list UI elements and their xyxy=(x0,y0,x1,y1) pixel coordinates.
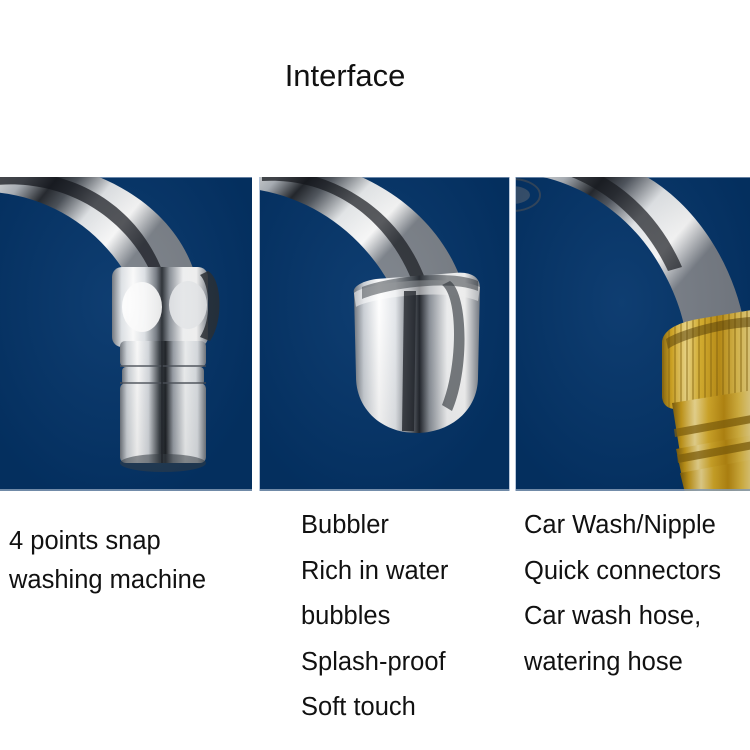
caption-line: washing machine xyxy=(9,561,206,600)
caption-line: 4 points snap xyxy=(9,522,206,561)
caption-four-points-snap: 4 points snap washing machine xyxy=(9,522,206,600)
caption-car-wash-nipple: Car Wash/Nipple Quick connectors Car was… xyxy=(524,503,721,685)
caption-line: bubbles xyxy=(301,594,448,640)
faucet-four-points-snap-icon xyxy=(0,177,252,491)
panel-strip xyxy=(0,177,750,491)
panel-bubbler xyxy=(259,177,510,491)
caption-line: Splash-proof xyxy=(301,640,448,686)
caption-line: Soft touch xyxy=(301,685,448,731)
caption-line: watering hose xyxy=(524,640,721,686)
faucet-car-wash-nipple-icon xyxy=(515,177,750,491)
panel-car-wash-nipple xyxy=(515,177,750,491)
caption-line: Rich in water xyxy=(301,549,448,595)
panel-bottom-hairline xyxy=(0,489,252,491)
caption-bubbler: Bubbler Rich in water bubbles Splash-pro… xyxy=(301,503,448,731)
faucet-bubbler-icon xyxy=(259,177,510,491)
caption-line: Car Wash/Nipple xyxy=(524,503,721,549)
caption-line: Car wash hose, xyxy=(524,594,721,640)
panel-four-points-snap xyxy=(0,177,252,491)
panel-bottom-hairline xyxy=(516,489,750,491)
caption-line: Quick connectors xyxy=(524,549,721,595)
product-infographic: Interface xyxy=(0,0,750,750)
page-title: Interface xyxy=(0,56,690,96)
panel-bottom-hairline xyxy=(260,489,509,491)
caption-line: Bubbler xyxy=(301,503,448,549)
